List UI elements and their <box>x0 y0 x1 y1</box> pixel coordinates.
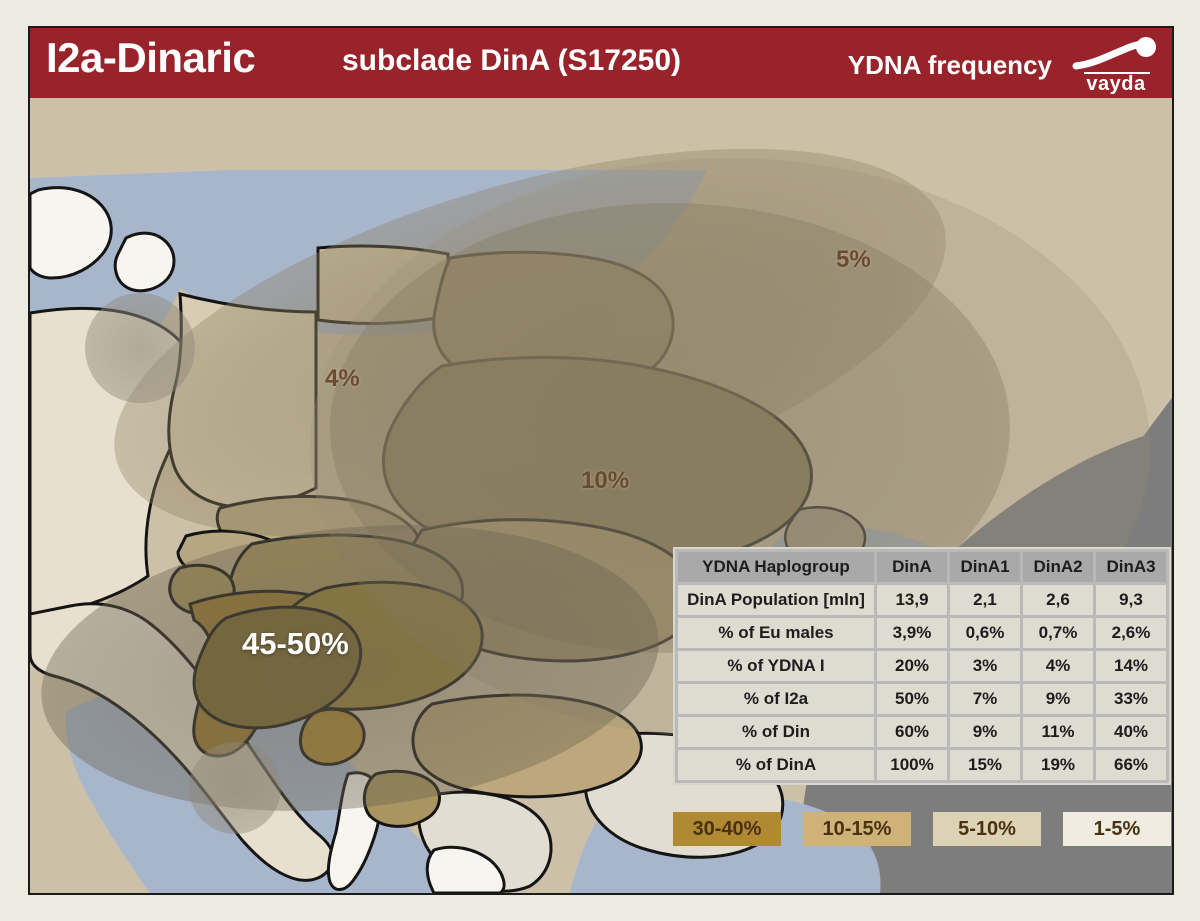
vayda-logo: vayda <box>1070 36 1162 94</box>
map-label-10: 10% <box>581 467 629 495</box>
frequency-legend: 30-40% 10-15% 5-10% 1-5% <box>673 812 1171 846</box>
cell-value: 0,6% <box>950 618 1020 648</box>
logo-wordmark: vayda <box>1070 73 1162 96</box>
table-row: % of DinA 100% 15% 19% 66% <box>678 750 1166 780</box>
cell-value: 9,3 <box>1096 585 1166 615</box>
frequency-blob-germany <box>85 293 195 403</box>
row-label: % of Din <box>678 717 874 747</box>
table-row: % of YDNA I 20% 3% 4% 14% <box>678 651 1166 681</box>
cell-value: 2,6% <box>1096 618 1166 648</box>
poster-root: 5% 4% 10% 45-50% I2a-Dinaric subclade Di… <box>0 0 1200 921</box>
cell-value: 9% <box>1023 684 1093 714</box>
row-label: DinA Population [mln] <box>678 585 874 615</box>
column-header-dina: DinA <box>877 552 947 582</box>
legend-swatch-30-40: 30-40% <box>673 812 781 846</box>
cell-value: 60% <box>877 717 947 747</box>
page-subtitle: subclade DinA (S17250) <box>342 44 681 78</box>
column-header-dina2: DinA2 <box>1023 552 1093 582</box>
frequency-blob-italy <box>189 742 281 834</box>
cell-value: 14% <box>1096 651 1166 681</box>
map-label-45-50: 45-50% <box>242 626 349 662</box>
legend-swatch-10-15: 10-15% <box>803 812 911 846</box>
cell-value: 40% <box>1096 717 1166 747</box>
frequency-caption: YDNA frequency <box>848 50 1052 81</box>
table-header-row: YDNA Haplogroup DinA DinA1 DinA2 DinA3 <box>678 552 1166 582</box>
cell-value: 11% <box>1023 717 1093 747</box>
cell-value: 33% <box>1096 684 1166 714</box>
cell-value: 66% <box>1096 750 1166 780</box>
cell-value: 9% <box>950 717 1020 747</box>
haplogroup-table-wrap: YDNA Haplogroup DinA DinA1 DinA2 DinA3 D… <box>673 547 1171 785</box>
cell-value: 13,9 <box>877 585 947 615</box>
cell-value: 3% <box>950 651 1020 681</box>
page-title: I2a-Dinaric <box>46 34 255 82</box>
denmark-lowlands <box>115 233 174 291</box>
row-label: % of DinA <box>678 750 874 780</box>
table-row: % of Din 60% 9% 11% 40% <box>678 717 1166 747</box>
cell-value: 2,1 <box>950 585 1020 615</box>
legend-swatch-5-10: 5-10% <box>933 812 1041 846</box>
map-label-5: 5% <box>836 246 871 274</box>
cell-value: 0,7% <box>1023 618 1093 648</box>
table-row: % of Eu males 3,9% 0,6% 0,7% 2,6% <box>678 618 1166 648</box>
row-label: % of YDNA I <box>678 651 874 681</box>
table-row: DinA Population [mln] 13,9 2,1 2,6 9,3 <box>678 585 1166 615</box>
cell-value: 4% <box>1023 651 1093 681</box>
map-plate: 5% 4% 10% 45-50% I2a-Dinaric subclade Di… <box>28 26 1174 895</box>
column-header-dina1: DinA1 <box>950 552 1020 582</box>
column-header-dina3: DinA3 <box>1096 552 1166 582</box>
table-head: YDNA Haplogroup DinA DinA1 DinA2 DinA3 <box>678 552 1166 582</box>
cell-value: 19% <box>1023 750 1093 780</box>
cell-value: 2,6 <box>1023 585 1093 615</box>
cell-value: 100% <box>877 750 947 780</box>
row-label: % of I2a <box>678 684 874 714</box>
cell-value: 20% <box>877 651 947 681</box>
vayda-mark-icon <box>1070 36 1162 76</box>
title-bar: I2a-Dinaric subclade DinA (S17250) YDNA … <box>30 28 1172 98</box>
table-body: DinA Population [mln] 13,9 2,1 2,6 9,3 %… <box>678 585 1166 780</box>
cell-value: 15% <box>950 750 1020 780</box>
cell-value: 7% <box>950 684 1020 714</box>
legend-swatch-1-5: 1-5% <box>1063 812 1171 846</box>
haplogroup-table: YDNA Haplogroup DinA DinA1 DinA2 DinA3 D… <box>675 549 1169 783</box>
cell-value: 3,9% <box>877 618 947 648</box>
map-label-4: 4% <box>325 365 360 393</box>
table-row: % of I2a 50% 7% 9% 33% <box>678 684 1166 714</box>
row-label: % of Eu males <box>678 618 874 648</box>
cell-value: 50% <box>877 684 947 714</box>
column-header-haplogroup: YDNA Haplogroup <box>678 552 874 582</box>
